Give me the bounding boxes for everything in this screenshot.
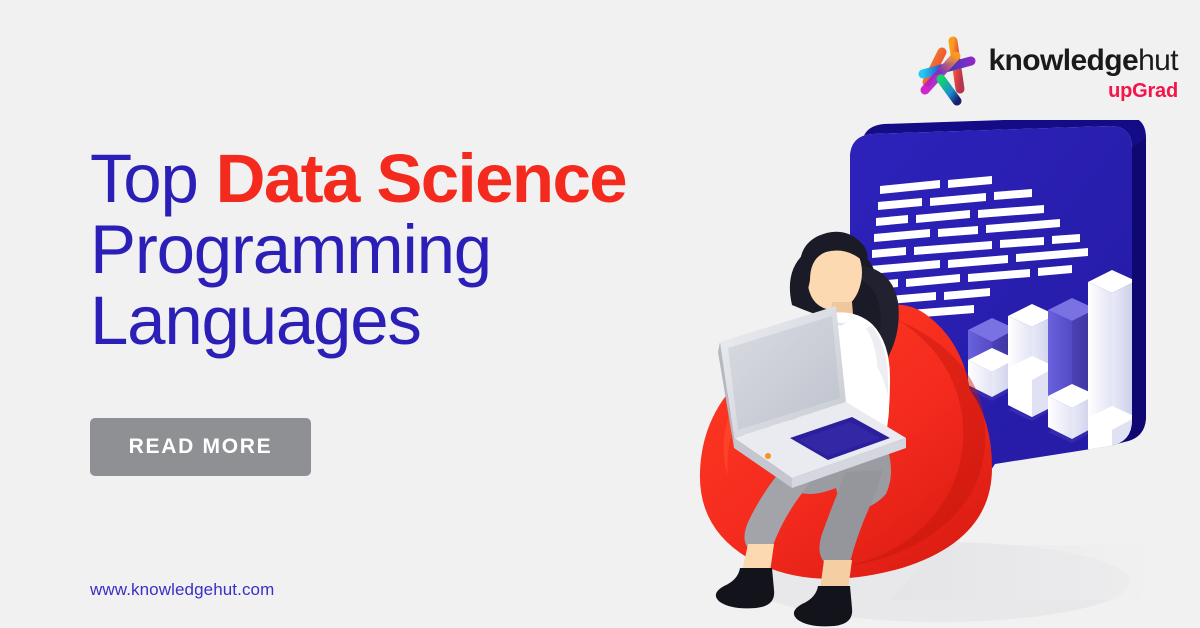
footer-website-url[interactable]: www.knowledgehut.com [90,580,274,600]
knowledgehut-logo-mark-icon [916,34,978,108]
headline-line-2: Programming [90,214,626,285]
hero-illustration [640,120,1200,628]
read-more-button[interactable]: READ MORE [90,418,311,476]
subbrand-label: upGrad [1108,79,1178,103]
brand-logo[interactable]: knowledgehut upGrad [916,32,1178,108]
headline-line-3: Languages [90,285,626,356]
shin-right [820,560,852,590]
headline-accent: Data Science [216,140,626,217]
wordmark-light: hut [1138,44,1178,77]
laptop-indicator [765,453,771,459]
brand-wordmark: knowledgehut upGrad [988,32,1178,103]
wordmark-bold: knowledge [988,44,1138,77]
headline-line-1: Top Data Science [90,143,626,214]
headline-prefix: Top [90,140,216,217]
boot-left [716,568,774,608]
wordmark-text: knowledgehut [988,44,1178,78]
page-title: Top Data Science Programming Languages [90,143,626,356]
marketing-banner: knowledgehut upGrad Top Data Science Pro… [0,0,1200,628]
